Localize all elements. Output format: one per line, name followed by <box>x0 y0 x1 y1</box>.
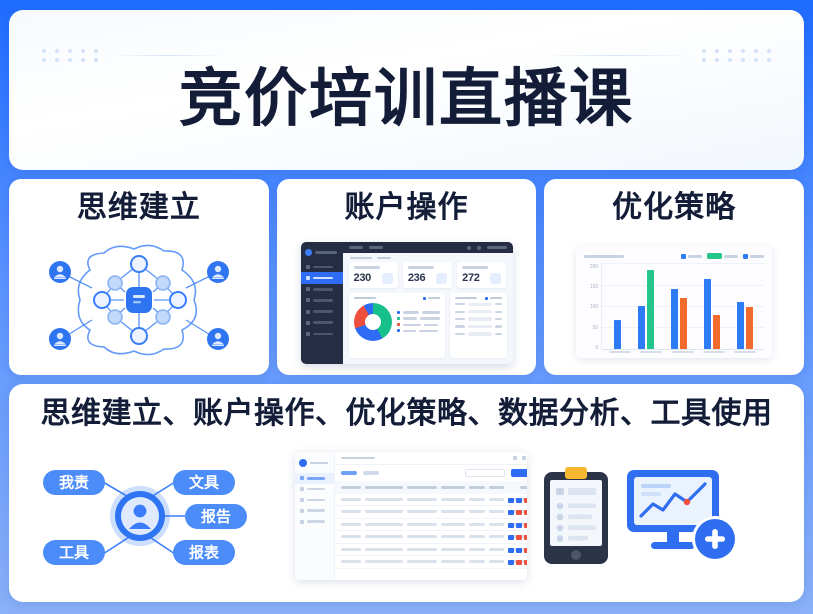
mindmap-node-pill: 报表 <box>173 540 235 565</box>
sidebar-item[interactable] <box>295 505 334 516</box>
stat-card: 272 <box>457 262 506 287</box>
sidebar-item[interactable] <box>295 484 334 495</box>
stat-value: 230 <box>354 273 380 284</box>
y-tick: 50 <box>593 326 599 331</box>
y-tick: 200 <box>590 265 598 270</box>
stat-value: 236 <box>408 273 434 284</box>
bottom-headline: 思维建立、账户操作、优化策略、数据分析、工具使用 <box>41 397 773 430</box>
bar-chart-mockup: 200 150 100 50 0 <box>576 246 772 358</box>
feature-cards-row: 思维建立 <box>9 179 804 375</box>
header-banner: 竞价培训直播课 <box>9 10 804 170</box>
bell-icon[interactable] <box>513 456 517 460</box>
mindmap-label: 我责 <box>59 474 89 492</box>
table-sidebar[interactable] <box>295 452 335 580</box>
stat-card: 236 <box>403 262 452 287</box>
dashboard-main: 230 236 272 <box>343 242 513 364</box>
feature-card-title: 思维建立 <box>77 191 201 226</box>
sidebar-item[interactable] <box>301 328 343 339</box>
bar-group <box>737 263 753 348</box>
chart-bars <box>602 263 764 348</box>
header-decoration-left <box>42 49 228 62</box>
search-input[interactable] <box>465 469 505 477</box>
mindmap-illustration: 我责 文具 报告 工具 报表 <box>25 454 287 578</box>
chart-legend <box>681 253 764 259</box>
bottom-summary-panel: 思维建立、账户操作、优化策略、数据分析、工具使用 我责 文具 <box>9 384 804 602</box>
feature-card-optimization[interactable]: 优化策略 200 150 100 50 <box>544 179 804 375</box>
dashboard-sidebar[interactable] <box>301 242 343 364</box>
chart-x-axis <box>584 349 764 354</box>
y-tick: 0 <box>595 346 598 351</box>
feature-card-title: 优化策略 <box>612 191 736 226</box>
divider-line-left <box>108 55 228 56</box>
table-row[interactable] <box>335 519 527 532</box>
user-name <box>487 246 507 249</box>
sidebar-item[interactable] <box>301 295 343 306</box>
header-decoration-right <box>542 49 771 62</box>
row-actions <box>508 510 527 513</box>
data-table-mockup <box>295 452 527 580</box>
mindmap-node-pill: 文具 <box>173 470 235 495</box>
stat-cards: 230 236 272 <box>343 262 513 287</box>
mindmap-label: 报表 <box>189 544 220 562</box>
bar-group <box>704 263 720 348</box>
chart-grid <box>601 263 764 348</box>
hbar-panel <box>450 293 507 359</box>
y-tick: 100 <box>590 305 598 310</box>
chart-y-axis: 200 150 100 50 0 <box>584 263 601 348</box>
search-button[interactable] <box>511 469 527 477</box>
sidebar-item[interactable] <box>301 261 343 272</box>
mindmap-node-pill: 我责 <box>43 470 105 495</box>
bar-group <box>671 263 687 348</box>
stat-value: 272 <box>462 273 488 284</box>
table-row[interactable] <box>335 556 527 569</box>
mindmap-label: 报告 <box>201 508 231 526</box>
monitor-line-chart-icon <box>625 464 743 568</box>
gear-icon[interactable] <box>477 246 481 250</box>
network-illustration <box>9 226 269 376</box>
donut-legend <box>397 311 440 333</box>
admin-dashboard-mockup: 230 236 272 <box>301 242 513 364</box>
row-actions <box>508 548 527 551</box>
legend-item <box>681 254 702 259</box>
sidebar-item[interactable] <box>301 284 343 295</box>
x-tick <box>703 351 725 354</box>
breadcrumb <box>343 253 513 262</box>
sidebar-item[interactable] <box>295 495 334 506</box>
dot-grid-icon <box>702 49 771 62</box>
chart-title <box>584 255 624 258</box>
horizontal-bars <box>455 303 502 336</box>
table-row[interactable] <box>335 506 527 519</box>
x-tick <box>672 351 694 354</box>
chart-plot-area: 200 150 100 50 0 <box>584 263 764 348</box>
donut-panel <box>349 293 445 359</box>
feature-card-title: 账户操作 <box>345 191 469 226</box>
tab-active[interactable] <box>341 471 357 475</box>
feature-card-mindset[interactable]: 思维建立 <box>9 179 269 375</box>
table-logo <box>295 456 334 473</box>
row-actions <box>508 523 527 526</box>
mindmap-node-pill: 工具 <box>43 540 105 565</box>
stat-card: 230 <box>349 262 398 287</box>
mindmap-label: 文具 <box>189 474 219 492</box>
sidebar-item[interactable] <box>301 306 343 317</box>
table-row[interactable] <box>335 494 527 507</box>
donut-chart <box>354 303 392 341</box>
x-tick <box>609 351 631 354</box>
row-actions <box>508 535 527 538</box>
dot-grid-icon <box>42 49 98 62</box>
dashboard-illustration: 230 236 272 <box>277 226 537 376</box>
stat-icon <box>436 273 447 284</box>
legend-item <box>707 253 738 259</box>
sidebar-item-active[interactable] <box>295 473 334 484</box>
y-tick: 150 <box>590 285 598 290</box>
x-tick <box>734 351 756 354</box>
row-actions <box>508 498 527 501</box>
table-topbar <box>335 452 527 465</box>
table-header-row <box>335 481 527 494</box>
table-toolbar <box>335 465 527 481</box>
divider-line-right <box>542 55 692 56</box>
dashboard-panels <box>343 288 513 365</box>
sidebar-item[interactable] <box>295 516 334 527</box>
legend-item <box>743 254 764 259</box>
table-main <box>335 452 527 580</box>
icon-pair <box>541 464 743 568</box>
bar-group <box>614 263 621 348</box>
bell-icon[interactable] <box>467 246 471 250</box>
bottom-illustrations: 我责 文具 报告 工具 报表 <box>9 430 804 602</box>
row-actions <box>508 560 527 563</box>
feature-card-account-ops[interactable]: 账户操作 <box>277 179 537 375</box>
sidebar-item[interactable] <box>301 317 343 328</box>
bar-group <box>638 263 654 348</box>
chart-header <box>584 253 764 259</box>
x-tick <box>640 351 662 354</box>
mindmap-label: 工具 <box>59 545 89 562</box>
mindmap-node-pill: 报告 <box>185 504 247 529</box>
tab[interactable] <box>363 471 379 475</box>
network-mindmap-icon <box>30 240 248 360</box>
stat-icon <box>490 273 501 284</box>
stat-icon <box>382 273 393 284</box>
chart-illustration: 200 150 100 50 0 <box>544 226 804 376</box>
gear-icon[interactable] <box>522 456 526 460</box>
dashboard-topbar[interactable] <box>343 242 513 253</box>
dashboard-logo <box>301 246 343 261</box>
clipboard-checklist-icon <box>541 466 611 566</box>
page-title: 竞价培训直播课 <box>9 68 804 131</box>
sidebar-item-active[interactable] <box>301 272 343 283</box>
table-row[interactable] <box>335 544 527 557</box>
table-row[interactable] <box>335 531 527 544</box>
